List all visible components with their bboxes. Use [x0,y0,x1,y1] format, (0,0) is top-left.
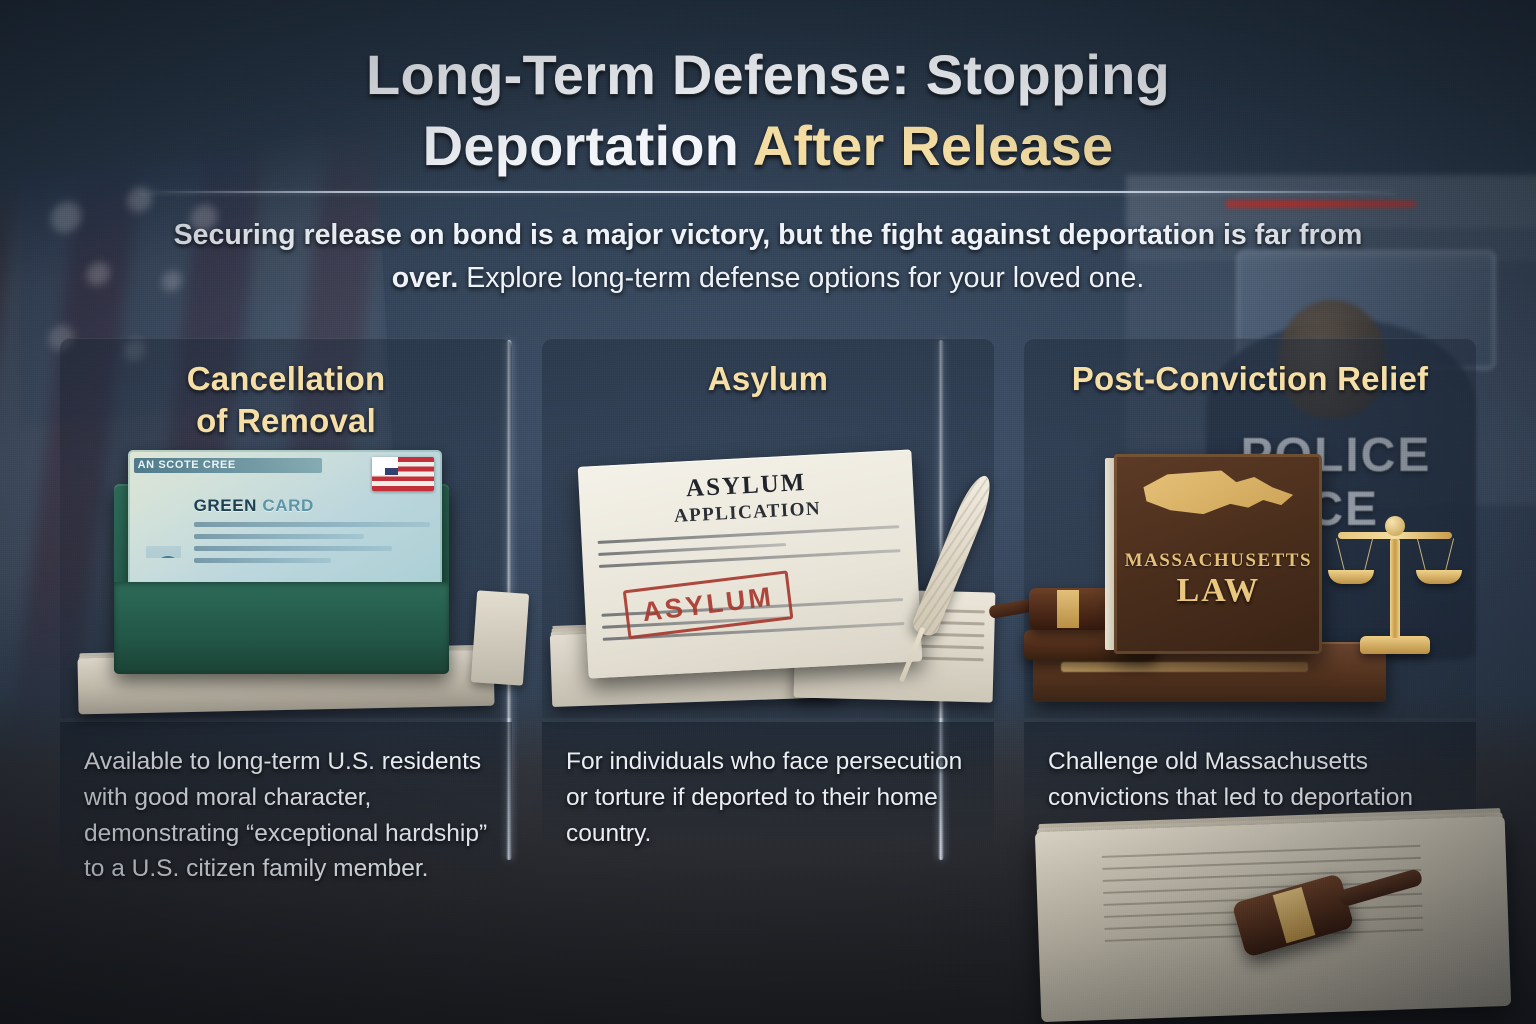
green-folder: AN SCOTE CREE GREEN CARD [114,484,448,674]
card-title: GREEN CARD [194,496,314,516]
title-line-2: Deportation After Release [0,111,1536,182]
page-subtitle: Securing release on bond is a major vict… [170,214,1366,301]
scales-post [1390,538,1400,638]
card-photo-silhouette [146,546,181,558]
column-caption: Available to long-term U.S. residents wi… [60,722,512,887]
scales-pan-right [1416,570,1462,584]
column-title-line-1: Cancellation [60,358,512,400]
card-title-green: GREEN [194,496,257,515]
column-title-line-1: Asylum [542,358,994,400]
card-title-card: CARD [257,496,314,515]
book-title-large: LAW [1114,572,1322,610]
gavel-brass-band [1057,590,1079,628]
column-cancellation-of-removal: Cancellation of Removal AN SCOTE CREE GR… [60,338,512,1024]
gavel-handle [1338,868,1423,907]
infographic-poster: POLICE ICE Long-Term Defense: Stopping D… [0,0,1536,1024]
massachusetts-law-book: MASSACHUSETTS LAW [1114,454,1322,654]
title-line-1: Long-Term Defense: Stopping [0,40,1536,111]
card-photo-frame [137,498,181,558]
us-flag-icon [372,457,434,491]
title-line-2-highlight: After Release [753,114,1114,177]
column-title-line-2: of Removal [60,400,512,442]
title-line-2-plain: Deportation [423,114,753,177]
column-title-line-1: Post-Conviction Relief [1024,358,1476,400]
card-header-text: AN SCOTE CREE [138,458,236,473]
column-title: Asylum [542,338,994,400]
column-asylum: Asylum ASYLUM APPLICATION ASYLUM For ind… [542,338,994,1024]
header-divider [140,191,1396,193]
green-card-in-folder-icon: AN SCOTE CREE GREEN CARD [60,450,512,718]
column-title: Post-Conviction Relief [1024,338,1476,400]
van-emergency-lights [1226,196,1416,212]
card-detail-lines [194,522,430,570]
asylum-application-icon: ASYLUM APPLICATION ASYLUM [542,450,994,718]
folder-front-flap [114,582,448,674]
scales-of-justice-icon [1332,504,1458,654]
massachusetts-law-book-icon: MASSACHUSETTS LAW [1024,450,1476,718]
page-title: Long-Term Defense: Stopping Deportation … [0,40,1536,181]
massachusetts-state-outline-icon [1143,468,1293,532]
side-papers [471,590,529,685]
book-title-small: MASSACHUSETTS [1114,550,1322,572]
subtitle-rest: Explore long-term defense options for yo… [458,262,1144,294]
scales-base [1360,636,1430,654]
scales-pan-left [1328,570,1374,584]
column-caption: For individuals who face persecution or … [542,722,994,851]
asylum-application-sheet: ASYLUM APPLICATION ASYLUM [577,449,922,678]
scales-finial [1385,516,1405,536]
column-title: Cancellation of Removal [60,338,512,441]
green-card: AN SCOTE CREE GREEN CARD [128,450,442,600]
